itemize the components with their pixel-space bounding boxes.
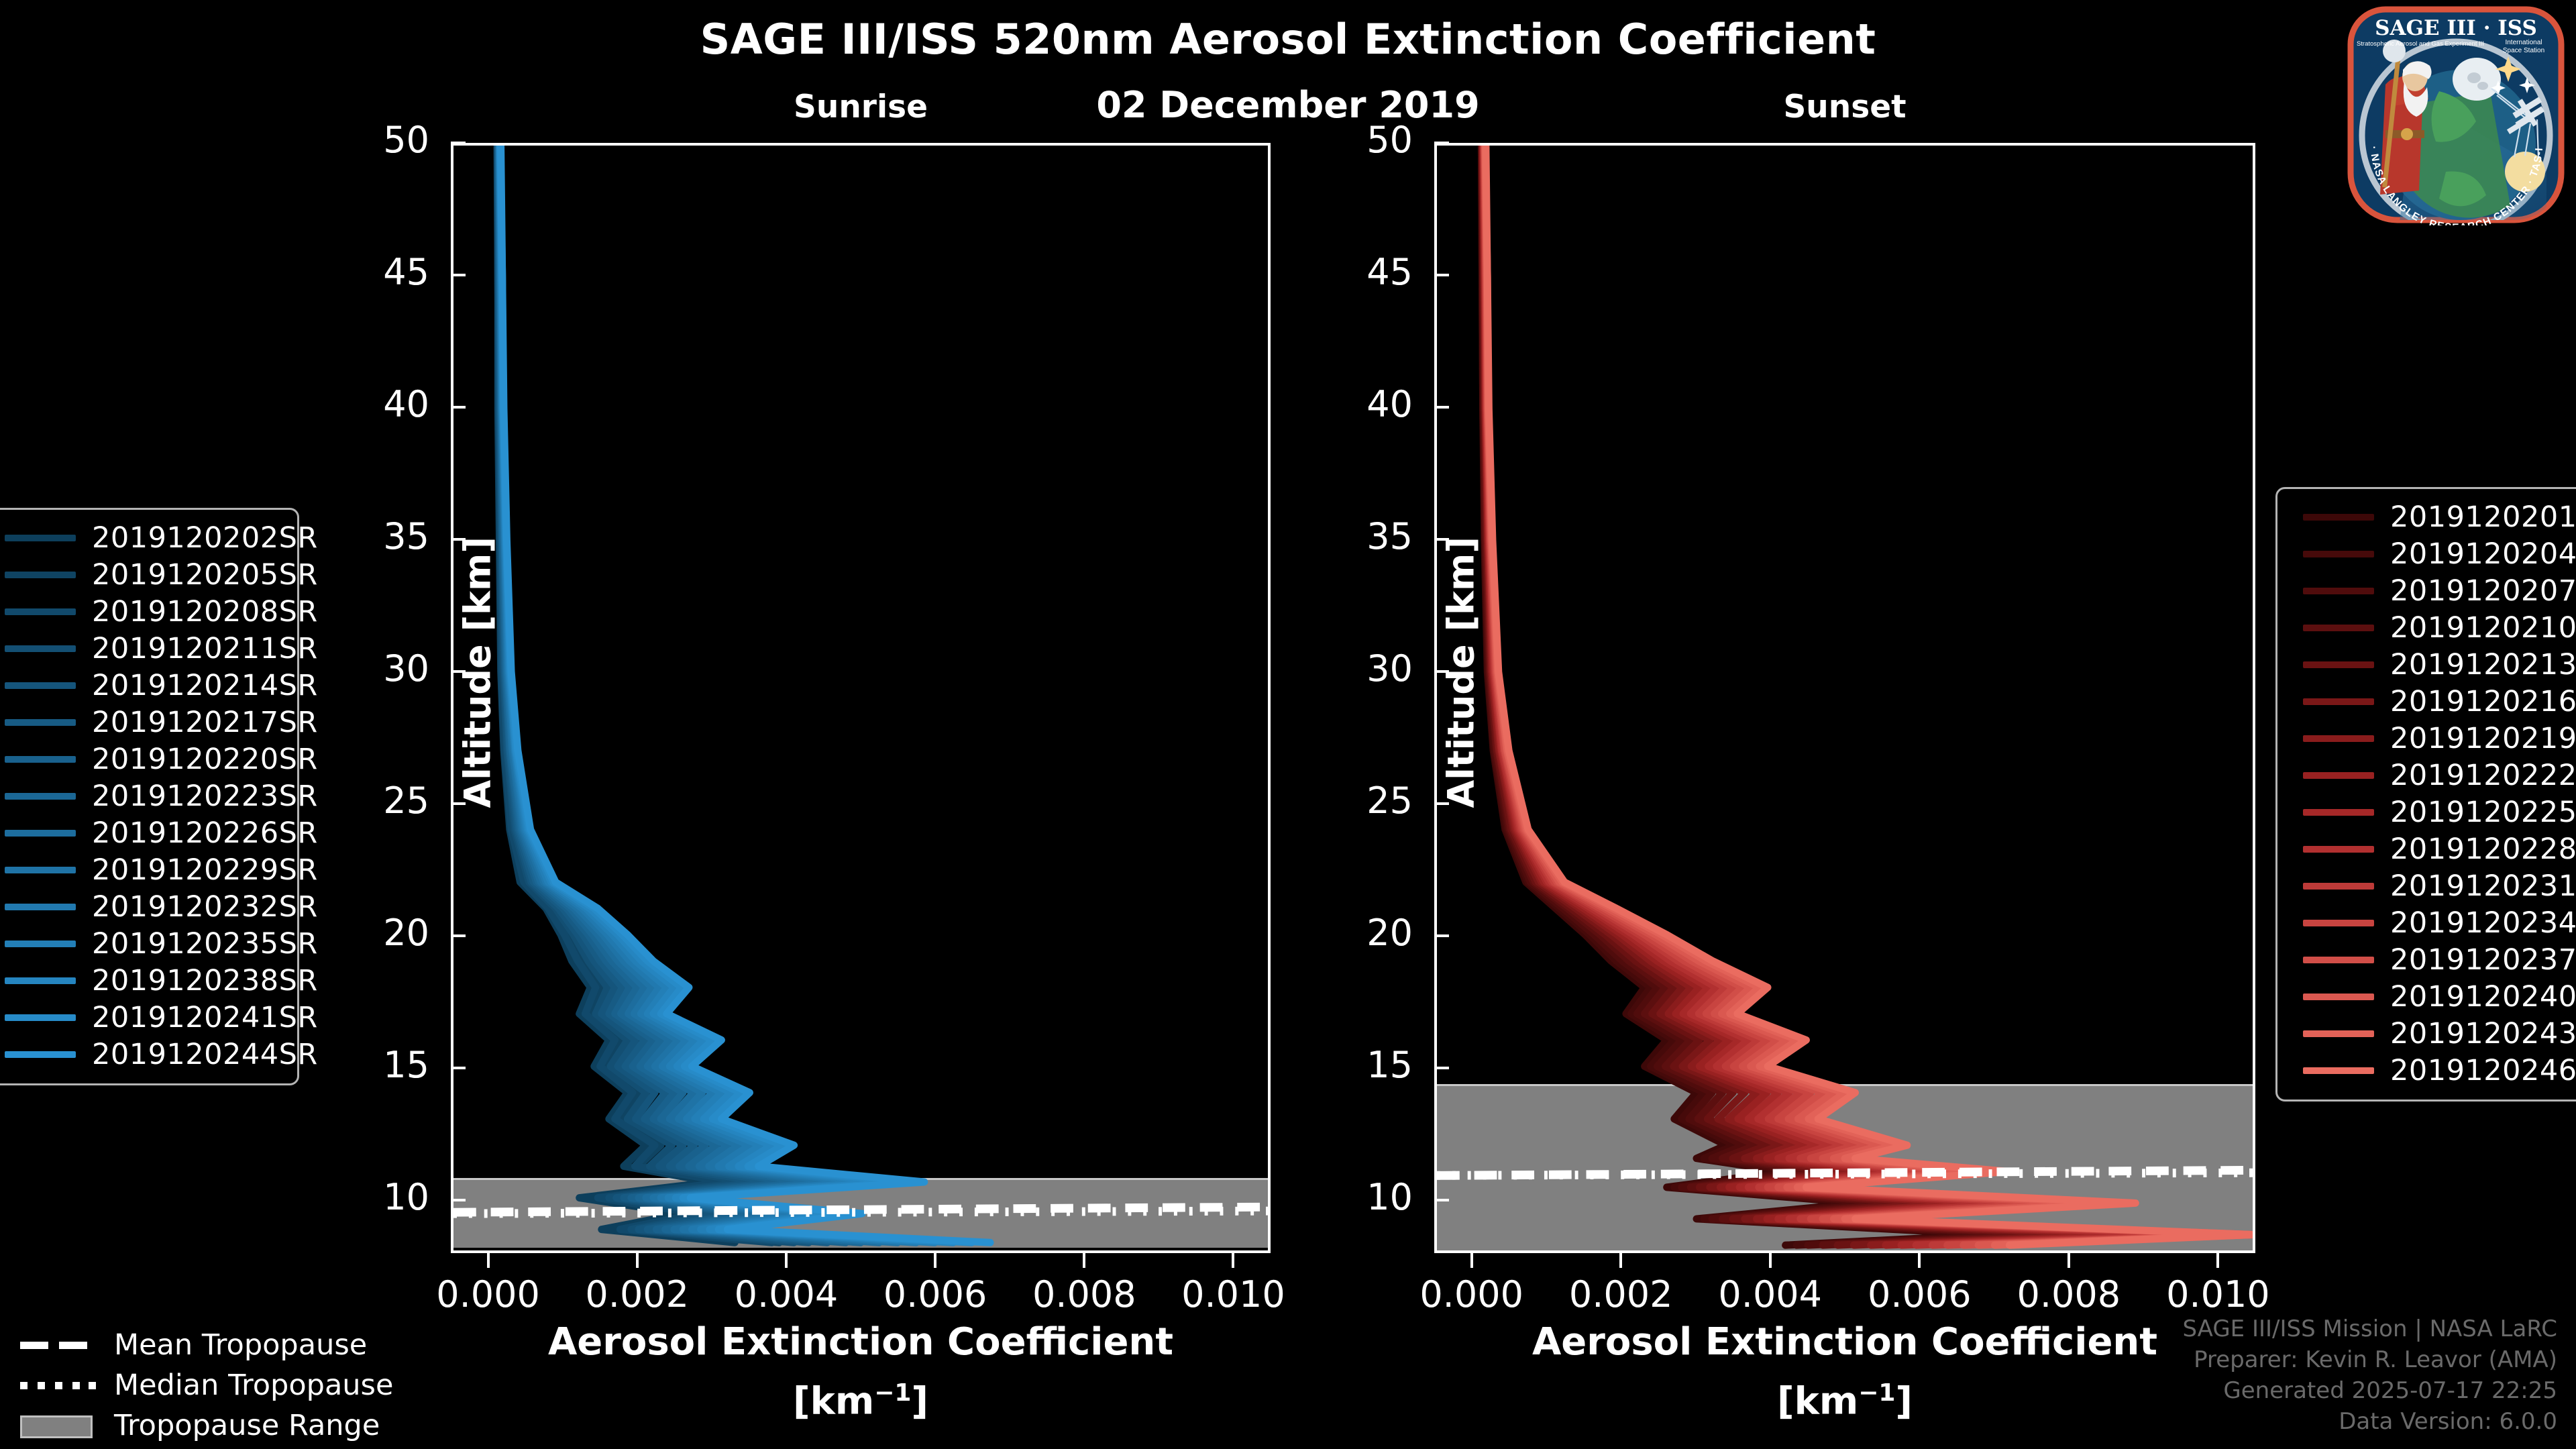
y-tick-mark — [451, 1067, 466, 1069]
legend-color-swatch — [2303, 551, 2374, 557]
x-tick-mark — [1619, 1253, 1622, 1268]
legend-item[interactable]: 2019120202SR — [0, 519, 286, 556]
x-tick-mark — [1232, 1253, 1234, 1268]
page-title: SAGE III/ISS 520nm Aerosol Extinction Co… — [0, 15, 2576, 64]
tropopause-legend-key-band — [17, 1415, 97, 1436]
legend-item[interactable]: 2019120231SS — [2288, 867, 2576, 904]
legend-color-swatch — [5, 830, 76, 837]
legend-item-label: 2019120207SS — [2390, 574, 2576, 608]
sage-iii-iss-mission-patch-logo: SAGE III · ISS Stratospheric Aerosol and… — [2345, 4, 2567, 225]
legend-item-label: 2019120202SR — [92, 521, 318, 555]
series-legend-sunrise[interactable]: 2019120202SR2019120205SR2019120208SR2019… — [0, 508, 299, 1085]
legend-item[interactable]: 2019120205SR — [0, 556, 286, 593]
legend-color-swatch — [5, 1014, 76, 1021]
tropopause-legend-item: Mean Tropopause — [17, 1325, 447, 1365]
tropopause-legend-key-dotted — [17, 1375, 97, 1395]
legend-item[interactable]: 2019120235SR — [0, 925, 286, 962]
patch-subtitle-right-1: International — [2505, 39, 2542, 46]
x-axis-label-units: [km−1] — [451, 1368, 1271, 1428]
legend-item-label: 2019120214SR — [92, 669, 318, 702]
x-axis-label-line1: Aerosol Extinction Coefficient — [451, 1317, 1271, 1368]
x-tick-mark — [934, 1253, 936, 1268]
y-tick-mark — [1434, 406, 1449, 409]
legend-item-label: 2019120243SS — [2390, 1017, 2576, 1051]
credits-line: Data Version: 6.0.0 — [2182, 1406, 2557, 1437]
legend-color-swatch — [2303, 846, 2374, 853]
legend-color-swatch — [2303, 809, 2374, 816]
axes-sunrise: 1015202530354045500.0000.0020.0040.0060.… — [451, 143, 1271, 1253]
legend-color-swatch — [5, 904, 76, 910]
x-tick-label: 0.010 — [2117, 1273, 2318, 1316]
credits-line: Generated 2025-07-17 22:25 — [2182, 1375, 2557, 1406]
x-tick-mark — [785, 1253, 788, 1268]
legend-color-swatch — [2303, 994, 2374, 1000]
legend-color-swatch — [5, 608, 76, 615]
legend-item-label: 2019120225SS — [2390, 796, 2576, 829]
legend-color-swatch — [5, 867, 76, 873]
legend-item-label: 2019120246SS — [2390, 1054, 2576, 1087]
legend-item[interactable]: 2019120228SS — [2288, 830, 2576, 867]
y-tick-label: 15 — [1366, 1045, 1413, 1085]
y-tick-label: 30 — [383, 649, 429, 689]
legend-item-label: 2019120234SS — [2390, 906, 2576, 940]
patch-title: SAGE III · ISS — [2375, 16, 2537, 40]
x-axis-label: Aerosol Extinction Coefficient[km−1] — [451, 1317, 1271, 1428]
y-tick-label: 45 — [1366, 252, 1413, 292]
axes-sunset: 1015202530354045500.0000.0020.0040.0060.… — [1434, 143, 2255, 1253]
legend-item-label: 2019120211SR — [92, 632, 318, 665]
legend-item[interactable]: 2019120213SS — [2288, 646, 2576, 683]
y-tick-label: 20 — [1366, 913, 1413, 953]
legend-item[interactable]: 2019120210SS — [2288, 609, 2576, 646]
legend-item-label: 2019120237SS — [2390, 943, 2576, 977]
y-tick-mark — [451, 274, 466, 276]
legend-item-label: 2019120231SS — [2390, 869, 2576, 903]
legend-item-label: 2019120217SR — [92, 706, 318, 739]
tropopause-legend: Mean TropopauseMedian TropopauseTropopau… — [17, 1325, 447, 1446]
tropopause-legend-item: Median Tropopause — [17, 1365, 447, 1405]
legend-item[interactable]: 2019120240SS — [2288, 978, 2576, 1015]
legend-item-label: 2019120241SR — [92, 1001, 318, 1034]
y-tick-mark — [451, 142, 466, 144]
legend-color-swatch — [2303, 625, 2374, 631]
y-tick-label: 30 — [1366, 649, 1413, 689]
y-tick-label: 50 — [1366, 120, 1413, 160]
x-tick-label: 0.010 — [1132, 1273, 1334, 1316]
x-tick-mark — [2068, 1253, 2070, 1268]
legend-color-swatch — [2303, 588, 2374, 594]
x-tick-mark — [1470, 1253, 1473, 1268]
y-tick-label: 40 — [1366, 384, 1413, 425]
legend-color-swatch — [5, 572, 76, 578]
legend-item-label: 2019120232SR — [92, 890, 318, 924]
x-axis-label-units: [km−1] — [1434, 1368, 2255, 1428]
y-tick-label: 35 — [383, 517, 429, 557]
x-tick-mark — [1769, 1253, 1772, 1268]
credits-block: SAGE III/ISS Mission | NASA LaRCPreparer… — [2182, 1313, 2557, 1437]
patch-subtitle-left: Stratospheric Aerosol and Gas Experiment… — [2357, 40, 2484, 48]
x-tick-mark — [1918, 1253, 1921, 1268]
y-tick-label: 45 — [383, 252, 429, 292]
legend-item[interactable]: 2019120244SR — [0, 1036, 286, 1073]
legend-item-label: 2019120204SS — [2390, 537, 2576, 571]
legend-color-swatch — [2303, 735, 2374, 742]
legend-item-label: 2019120222SS — [2390, 759, 2576, 792]
legend-item[interactable]: 2019120237SS — [2288, 941, 2576, 978]
y-tick-mark — [1434, 274, 1449, 276]
legend-item-label: 2019120240SS — [2390, 980, 2576, 1014]
legend-color-swatch — [2303, 661, 2374, 668]
x-tick-mark — [487, 1253, 490, 1268]
legend-item-label: 2019120223SR — [92, 780, 318, 813]
legend-item-label: 2019120201SS — [2390, 500, 2576, 534]
credits-line: Preparer: Kevin R. Leavor (AMA) — [2182, 1344, 2557, 1375]
legend-item[interactable]: 2019120226SR — [0, 814, 286, 851]
legend-color-swatch — [2303, 772, 2374, 779]
credits-line: SAGE III/ISS Mission | NASA LaRC — [2182, 1313, 2557, 1344]
x-tick-mark — [1083, 1253, 1085, 1268]
x-axis-label-line1: Aerosol Extinction Coefficient — [1434, 1317, 2255, 1368]
legend-item[interactable]: 2019120217SR — [0, 704, 286, 741]
legend-item-label: 2019120216SS — [2390, 685, 2576, 718]
legend-color-swatch — [2303, 1030, 2374, 1037]
legend-color-swatch — [5, 535, 76, 541]
legend-item-label: 2019120244SR — [92, 1038, 318, 1071]
legend-item-label: 2019120210SS — [2390, 611, 2576, 645]
legend-color-swatch — [5, 682, 76, 689]
patch-subtitle-right-2: Space Station — [2503, 47, 2544, 54]
legend-item-label: 2019120205SR — [92, 558, 318, 592]
y-tick-mark — [451, 934, 466, 937]
legend-item[interactable]: 2019120222SS — [2288, 757, 2576, 794]
legend-item-label: 2019120229SR — [92, 853, 318, 887]
legend-item-label: 2019120228SS — [2390, 833, 2576, 866]
legend-item[interactable]: 2019120246SS — [2288, 1052, 2576, 1089]
legend-color-swatch — [5, 1051, 76, 1058]
legend-item[interactable]: 2019120229SR — [0, 851, 286, 888]
legend-color-swatch — [5, 719, 76, 726]
legend-item-label: 2019120235SR — [92, 927, 318, 961]
legend-color-swatch — [2303, 920, 2374, 926]
legend-item[interactable]: 2019120204SS — [2288, 535, 2576, 572]
y-tick-mark — [1434, 1067, 1449, 1069]
legend-item[interactable]: 2019120243SS — [2288, 1015, 2576, 1052]
legend-item[interactable]: 2019120238SR — [0, 962, 286, 999]
y-axis-label: Altitude [km] — [457, 540, 499, 808]
legend-color-swatch — [2303, 514, 2374, 521]
legend-item[interactable]: 2019120223SR — [0, 777, 286, 814]
x-tick-mark — [2216, 1253, 2219, 1268]
y-tick-label: 15 — [383, 1045, 429, 1085]
legend-color-swatch — [5, 941, 76, 947]
legend-item-label: 2019120213SS — [2390, 648, 2576, 682]
legend-item[interactable]: 2019120232SR — [0, 888, 286, 925]
y-tick-label: 50 — [383, 120, 429, 160]
legend-item[interactable]: 2019120208SR — [0, 593, 286, 630]
y-tick-mark — [1434, 1199, 1449, 1201]
y-tick-mark — [451, 1199, 466, 1201]
legend-color-swatch — [5, 977, 76, 984]
tropopause-legend-label: Mean Tropopause — [114, 1328, 367, 1362]
legend-color-swatch — [2303, 1067, 2374, 1074]
legend-item-label: 2019120238SR — [92, 964, 318, 998]
y-tick-mark — [451, 406, 466, 409]
y-tick-label: 25 — [1366, 781, 1413, 821]
legend-item[interactable]: 2019120214SR — [0, 667, 286, 704]
y-tick-label: 40 — [383, 384, 429, 425]
legend-item[interactable]: 2019120216SS — [2288, 683, 2576, 720]
y-tick-mark — [1434, 934, 1449, 937]
y-tick-label: 25 — [383, 781, 429, 821]
legend-color-swatch — [2303, 957, 2374, 963]
legend-item-label: 2019120219SS — [2390, 722, 2576, 755]
legend-color-swatch — [5, 645, 76, 652]
tropopause-legend-label: Tropopause Range — [114, 1409, 380, 1442]
panel-label-sunrise: Sunrise — [451, 89, 1271, 125]
panel-label-sunset: Sunset — [1434, 89, 2255, 125]
y-tick-label: 10 — [1366, 1177, 1413, 1218]
legend-color-swatch — [2303, 698, 2374, 705]
legend-item-label: 2019120220SR — [92, 743, 318, 776]
tropopause-legend-item: Tropopause Range — [17, 1405, 447, 1446]
y-tick-mark — [1434, 142, 1449, 144]
legend-item[interactable]: 2019120225SS — [2288, 794, 2576, 830]
x-tick-mark — [636, 1253, 639, 1268]
legend-color-swatch — [5, 793, 76, 800]
y-tick-label: 35 — [1366, 517, 1413, 557]
legend-item[interactable]: 2019120201SS — [2288, 498, 2576, 535]
legend-item[interactable]: 2019120219SS — [2288, 720, 2576, 757]
legend-item[interactable]: 2019120211SR — [0, 630, 286, 667]
legend-item-label: 2019120226SR — [92, 816, 318, 850]
legend-item[interactable]: 2019120220SR — [0, 741, 286, 777]
x-axis-label: Aerosol Extinction Coefficient[km−1] — [1434, 1317, 2255, 1428]
legend-item[interactable]: 2019120234SS — [2288, 904, 2576, 941]
y-tick-label: 10 — [383, 1177, 429, 1218]
legend-color-swatch — [5, 756, 76, 763]
series-legend-sunset[interactable]: 2019120201SS2019120204SS2019120207SS2019… — [2275, 487, 2576, 1102]
legend-item[interactable]: 2019120241SR — [0, 999, 286, 1036]
y-tick-label: 20 — [383, 913, 429, 953]
legend-color-swatch — [2303, 883, 2374, 890]
tropopause-legend-key-dashed — [17, 1335, 97, 1355]
y-axis-label: Altitude [km] — [1440, 540, 1483, 808]
tropopause-legend-label: Median Tropopause — [114, 1368, 393, 1402]
legend-item[interactable]: 2019120207SS — [2288, 572, 2576, 609]
legend-item-label: 2019120208SR — [92, 595, 318, 629]
